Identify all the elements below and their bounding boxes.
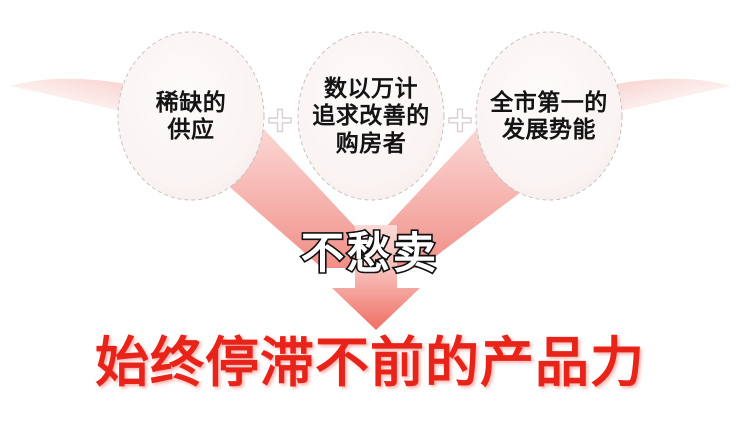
slide-canvas: 稀缺的 供应 数以万计 追求改善的 购房者 全市第一的 发展势能 + + 不愁卖… (0, 0, 740, 432)
plus-icon-2: + (442, 104, 478, 140)
node-label-momentum: 全市第一的 发展势能 (476, 32, 622, 200)
middle-label-outline: 不愁卖 (0, 219, 740, 281)
node-label-buyers: 数以万计 追求改善的 购房者 (298, 32, 444, 200)
plus-icon-1: + (262, 104, 298, 140)
conclusion-label: 始终停滞不前的产品力 (0, 318, 740, 397)
node-label-scarce-supply: 稀缺的 供应 (118, 32, 264, 200)
